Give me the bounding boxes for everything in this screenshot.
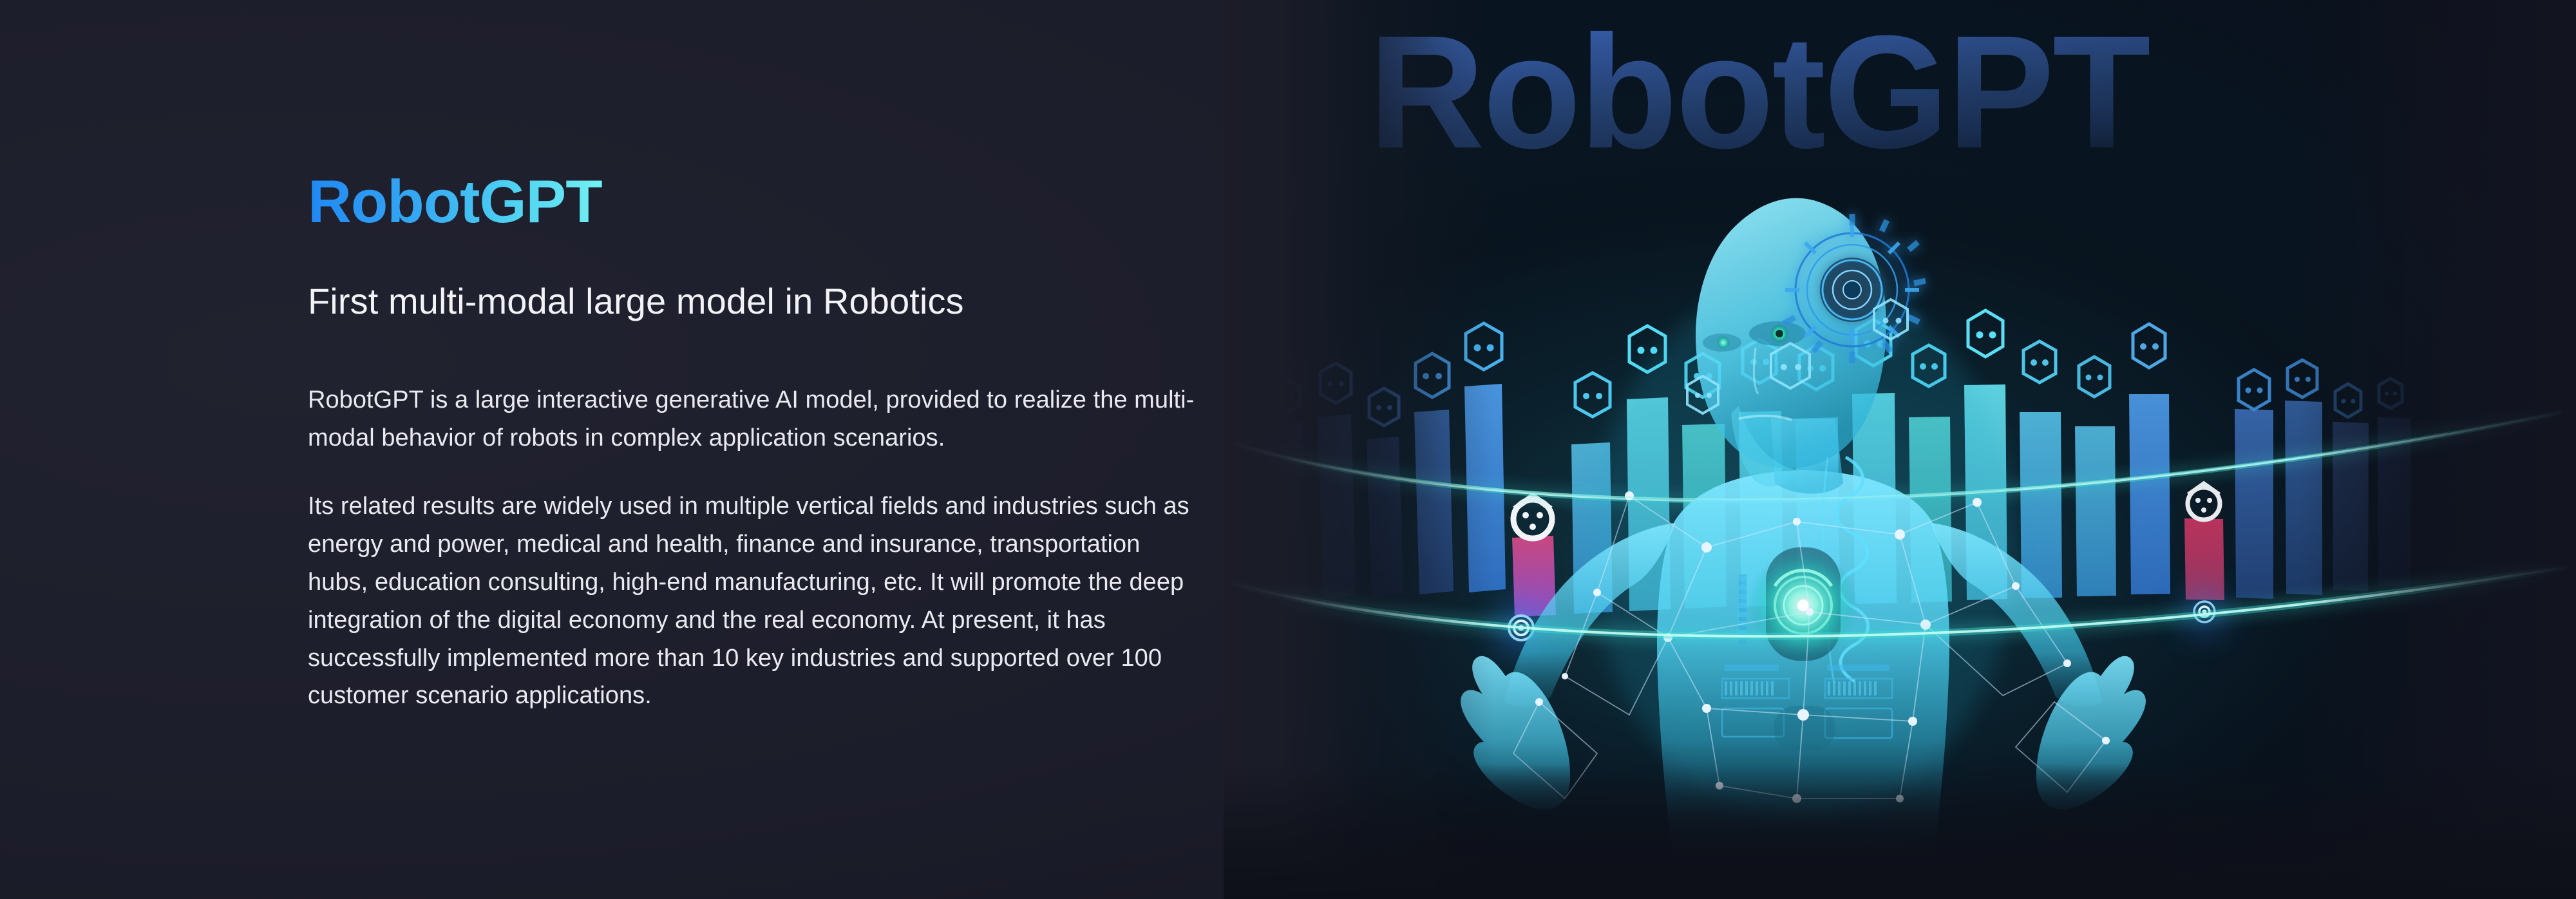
hero-text-column: RobotGPT First multi-modal large model i… [308, 0, 1222, 899]
description-paragraph-1: RobotGPT is a large interactive generati… [308, 381, 1203, 457]
page-title: RobotGPT [308, 171, 602, 232]
description-paragraph-2: Its related results are widely used in m… [308, 487, 1203, 715]
hero-banner: RobotGPT [0, 0, 2576, 899]
hero-bottom-fade [1224, 764, 2576, 899]
robot-eye-left [1717, 336, 1730, 349]
page-subtitle: First multi-modal large model in Robotic… [308, 280, 964, 322]
hero-illustration: RobotGPT [1224, 0, 2576, 899]
